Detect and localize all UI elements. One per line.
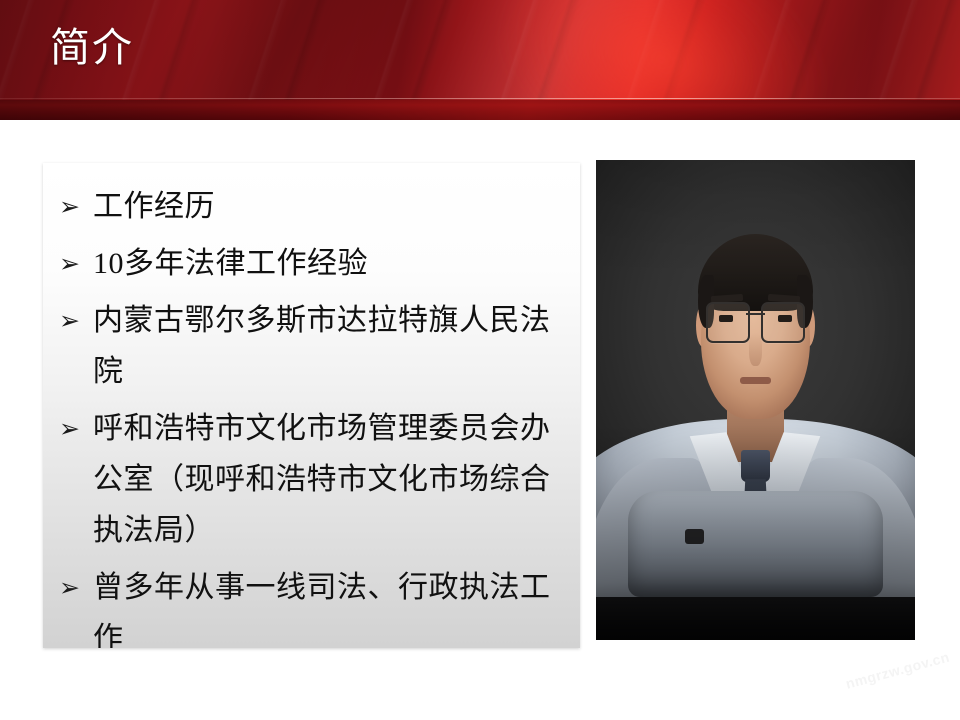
arrow-bullet-icon: ➢ [57, 295, 93, 346]
arrow-bullet-icon: ➢ [57, 403, 93, 454]
portrait-photo [596, 160, 915, 640]
banner-hairline-divider [0, 98, 960, 99]
list-item: ➢ 工作经历 [57, 181, 570, 232]
bullet-list: ➢ 工作经历 ➢ 10多年法律工作经验 ➢ 内蒙古鄂尔多斯市达拉特旗人民法院 ➢… [43, 163, 580, 648]
site-watermark: nmgrzw.gov.cn [844, 649, 951, 692]
banner-bottom-band-sheen [0, 100, 960, 120]
arrow-bullet-icon: ➢ [57, 562, 93, 613]
photo-vignette [596, 160, 915, 640]
list-item-label: 内蒙古鄂尔多斯市达拉特旗人民法院 [93, 295, 570, 397]
list-item: ➢ 内蒙古鄂尔多斯市达拉特旗人民法院 [57, 295, 570, 397]
arrow-bullet-icon: ➢ [57, 238, 93, 289]
page-title: 简介 [50, 26, 134, 70]
list-item-label: 工作经历 [93, 181, 570, 232]
list-item: ➢ 10多年法律工作经验 [57, 238, 570, 289]
list-item: ➢ 曾多年从事一线司法、行政执法工作 [57, 562, 570, 648]
list-item-label: 10多年法律工作经验 [93, 238, 570, 289]
slide-canvas: 简介 ➢ 工作经历 ➢ 10多年法律工作经验 ➢ 内蒙古鄂尔多斯市达拉特旗人民法… [0, 0, 960, 720]
content-panel: ➢ 工作经历 ➢ 10多年法律工作经验 ➢ 内蒙古鄂尔多斯市达拉特旗人民法院 ➢… [43, 163, 580, 648]
arrow-bullet-icon: ➢ [57, 181, 93, 232]
slide-header-banner: 简介 [0, 0, 960, 120]
list-item-label: 曾多年从事一线司法、行政执法工作 [93, 562, 570, 648]
list-item-label: 呼和浩特市文化市场管理委员会办公室（现呼和浩特市文化市场综合执法局） [93, 403, 570, 556]
list-item: ➢ 呼和浩特市文化市场管理委员会办公室（现呼和浩特市文化市场综合执法局） [57, 403, 570, 556]
